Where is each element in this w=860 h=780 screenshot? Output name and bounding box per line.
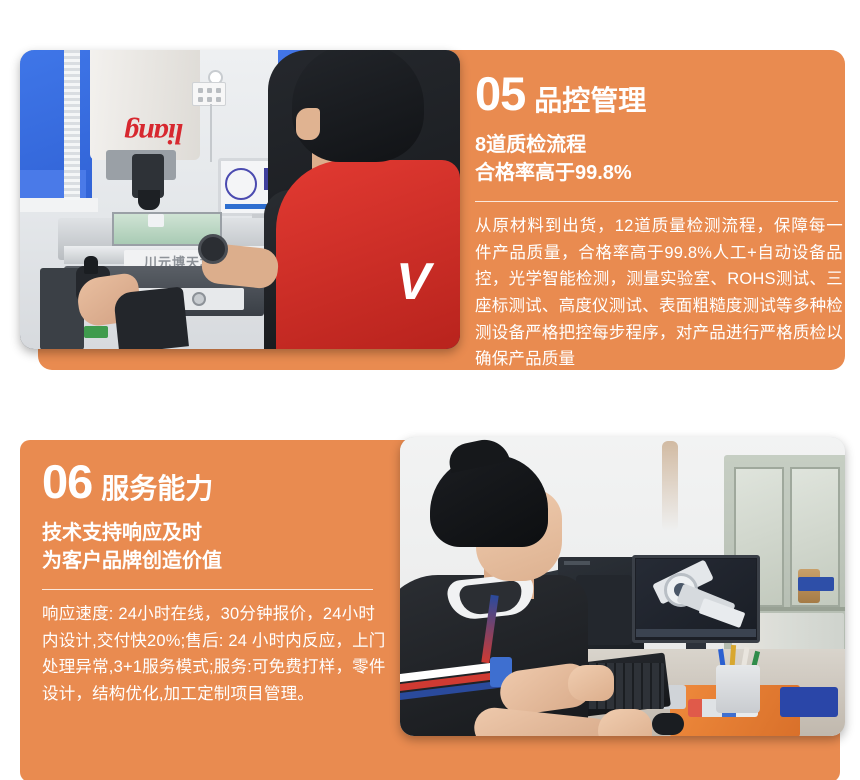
section-05-subtitle-line-2: 合格率高于99.8% (475, 159, 843, 187)
section-06-heading: 06 服务能力 (42, 458, 390, 505)
photo-optic-lens-tip (138, 190, 160, 210)
quality-control-photo: liang 川元博天地 (20, 50, 460, 349)
section-06-text: 06 服务能力 技术支持响应及时 为客户品牌创造价值 响应速度: 24小时在线，… (42, 458, 390, 708)
photo-vest-logo: V (396, 256, 452, 322)
section-06-subtitle: 技术支持响应及时 为客户品牌创造价值 (42, 519, 390, 576)
section-05-title: 品控管理 (534, 87, 646, 115)
section-quality-control: liang 川元博天地 (0, 0, 860, 400)
product-detail-page: liang 川元博天地 (0, 0, 860, 780)
photo-control-knob-2 (192, 292, 206, 306)
photo-cabinet-blue-box-1 (798, 577, 834, 591)
section-06-title: 服务能力 (101, 475, 213, 503)
photo-measured-part (148, 214, 164, 227)
section-05-subtitle: 8道质检流程 合格率高于99.8% (475, 131, 843, 188)
photo-cad-monitor-taskbar (636, 629, 756, 637)
section-06-body: 响应速度: 24小时在线，30分钟报价，24小时内设计,交付快20%;售后: 2… (42, 601, 390, 708)
photo-power-cord (210, 104, 212, 162)
photo-operator-head (292, 50, 424, 162)
photo-engineer-hair (430, 455, 548, 547)
section-05-heading: 05 品控管理 (475, 70, 843, 117)
photo-pen-holder (716, 665, 760, 713)
photo-wall-stain (662, 441, 678, 531)
section-05-subtitle-line-1: 8道质检流程 (475, 131, 843, 159)
section-06-subtitle-line-1: 技术支持响应及时 (42, 519, 390, 547)
section-service-capability: 06 服务能力 技术支持响应及时 为客户品牌创造价值 响应速度: 24小时在线，… (0, 400, 860, 780)
section-05-body: 从原材料到出货，12道质量检测流程，保障每一件产品质量，合格率高于99.8%人工… (475, 213, 843, 373)
section-06-subtitle-line-2: 为客户品牌创造价值 (42, 547, 390, 575)
photo-joystick (84, 256, 98, 274)
photo-engineer (400, 445, 602, 736)
photo-mouse (652, 713, 684, 735)
photo-screen-cad-circle (225, 168, 257, 200)
section-05-number: 05 (475, 70, 525, 117)
section-05-divider (475, 201, 838, 202)
photo-operator-sleeve (113, 287, 189, 349)
photo-machine-brand-text: liang (124, 52, 184, 148)
photo-window-blind (64, 50, 80, 200)
photo-blue-case (780, 687, 838, 717)
photo-operator-ear (296, 108, 320, 140)
photo-window-sill (20, 198, 98, 212)
section-05-text: 05 品控管理 8道质检流程 合格率高于99.8% 从原材料到出货，12道质量检… (475, 70, 843, 373)
section-06-number: 06 (42, 458, 92, 505)
service-capability-photo (400, 437, 845, 736)
photo-engineer-hand-mouse (598, 709, 652, 736)
photo-wall-socket (192, 82, 226, 106)
photo-green-indicator (84, 326, 108, 338)
section-06-divider (42, 589, 373, 590)
photo-handwheel (198, 234, 228, 264)
photo-engineer-hand-keyboard (568, 665, 614, 701)
